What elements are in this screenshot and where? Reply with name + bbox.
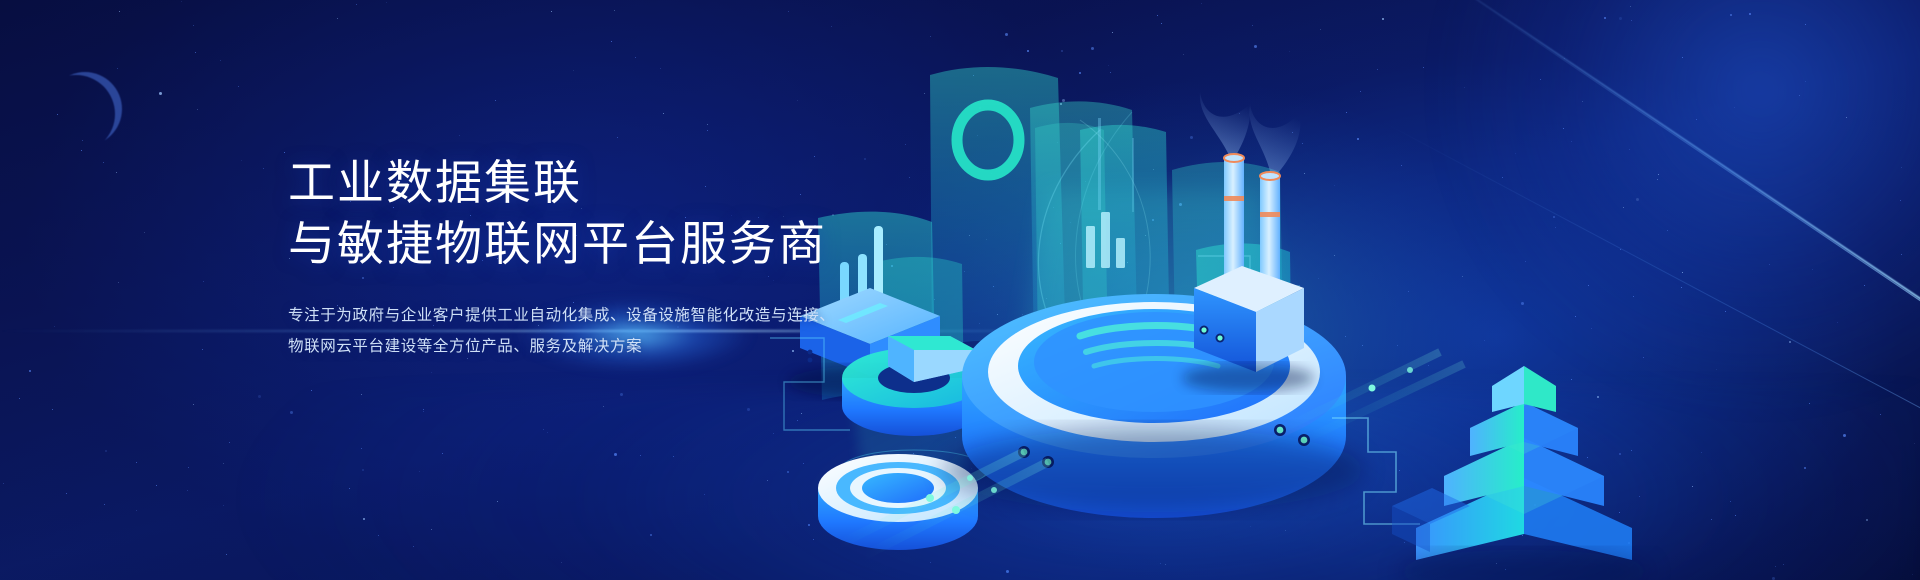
subtitle-line-1: 专注于为政府与企业客户提供工业自动化集成、设备设施智能化改造与连接、	[288, 300, 1048, 331]
headline-line-2: 与敏捷物联网平台服务商	[288, 213, 1048, 274]
hero-banner: 工业数据集联 与敏捷物联网平台服务商 专注于为政府与企业客户提供工业自动化集成、…	[0, 0, 1920, 580]
crescent-moon-icon	[48, 72, 122, 146]
headline-line-1: 工业数据集联	[288, 152, 1048, 213]
subtitle-line-2: 物联网云平台建设等全方位产品、服务及解决方案	[288, 331, 1048, 362]
hero-copy: 工业数据集联 与敏捷物联网平台服务商 专注于为政府与企业客户提供工业自动化集成、…	[288, 152, 1048, 362]
